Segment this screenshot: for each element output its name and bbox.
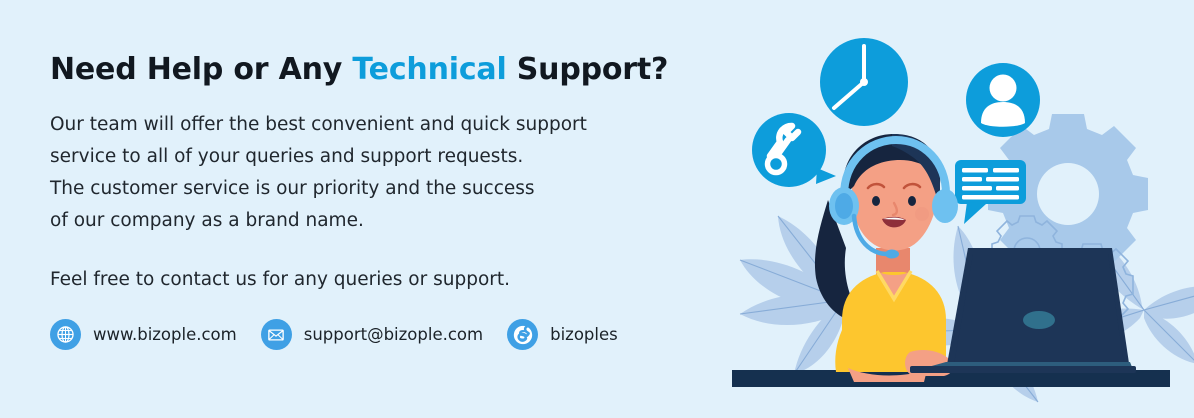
headline-accent-word: Technical: [352, 52, 506, 87]
body-line-4: of our company as a brand name.: [50, 205, 750, 237]
secondary-paragraph: Feel free to contact us for any queries …: [50, 264, 750, 296]
headline-part-before: Need Help or Any: [50, 52, 352, 87]
contact-item-skype[interactable]: S bizoples: [507, 319, 618, 350]
website-label: www.bizople.com: [93, 325, 237, 344]
support-illustration: [724, 0, 1194, 418]
support-banner: Need Help or Any Technical Support? Our …: [0, 0, 1194, 418]
contact-row: www.bizople.com support@bizople.com S: [50, 319, 642, 350]
support-agent-figure: [815, 134, 958, 382]
body-line-3: The customer service is our priority and…: [50, 173, 750, 205]
globe-icon: [50, 319, 81, 350]
email-label: support@bizople.com: [304, 325, 483, 344]
svg-text:S: S: [518, 328, 528, 344]
page-title: Need Help or Any Technical Support?: [50, 52, 750, 87]
user-avatar-icon: [966, 63, 1040, 137]
body-paragraph: Our team will offer the best convenient …: [50, 109, 750, 237]
text-column: Need Help or Any Technical Support? Our …: [50, 52, 750, 296]
wrench-speech-bubble-icon: [752, 113, 836, 187]
skype-icon: S: [507, 319, 538, 350]
headline-part-after: Support?: [507, 52, 669, 87]
body-line-1: Our team will offer the best convenient …: [50, 109, 750, 141]
envelope-icon: [261, 319, 292, 350]
body-line-2: service to all of your queries and suppo…: [50, 141, 750, 173]
contact-item-email[interactable]: support@bizople.com: [261, 319, 483, 350]
skype-label: bizoples: [550, 325, 618, 344]
clock-icon: [820, 38, 908, 126]
contact-item-website[interactable]: www.bizople.com: [50, 319, 237, 350]
